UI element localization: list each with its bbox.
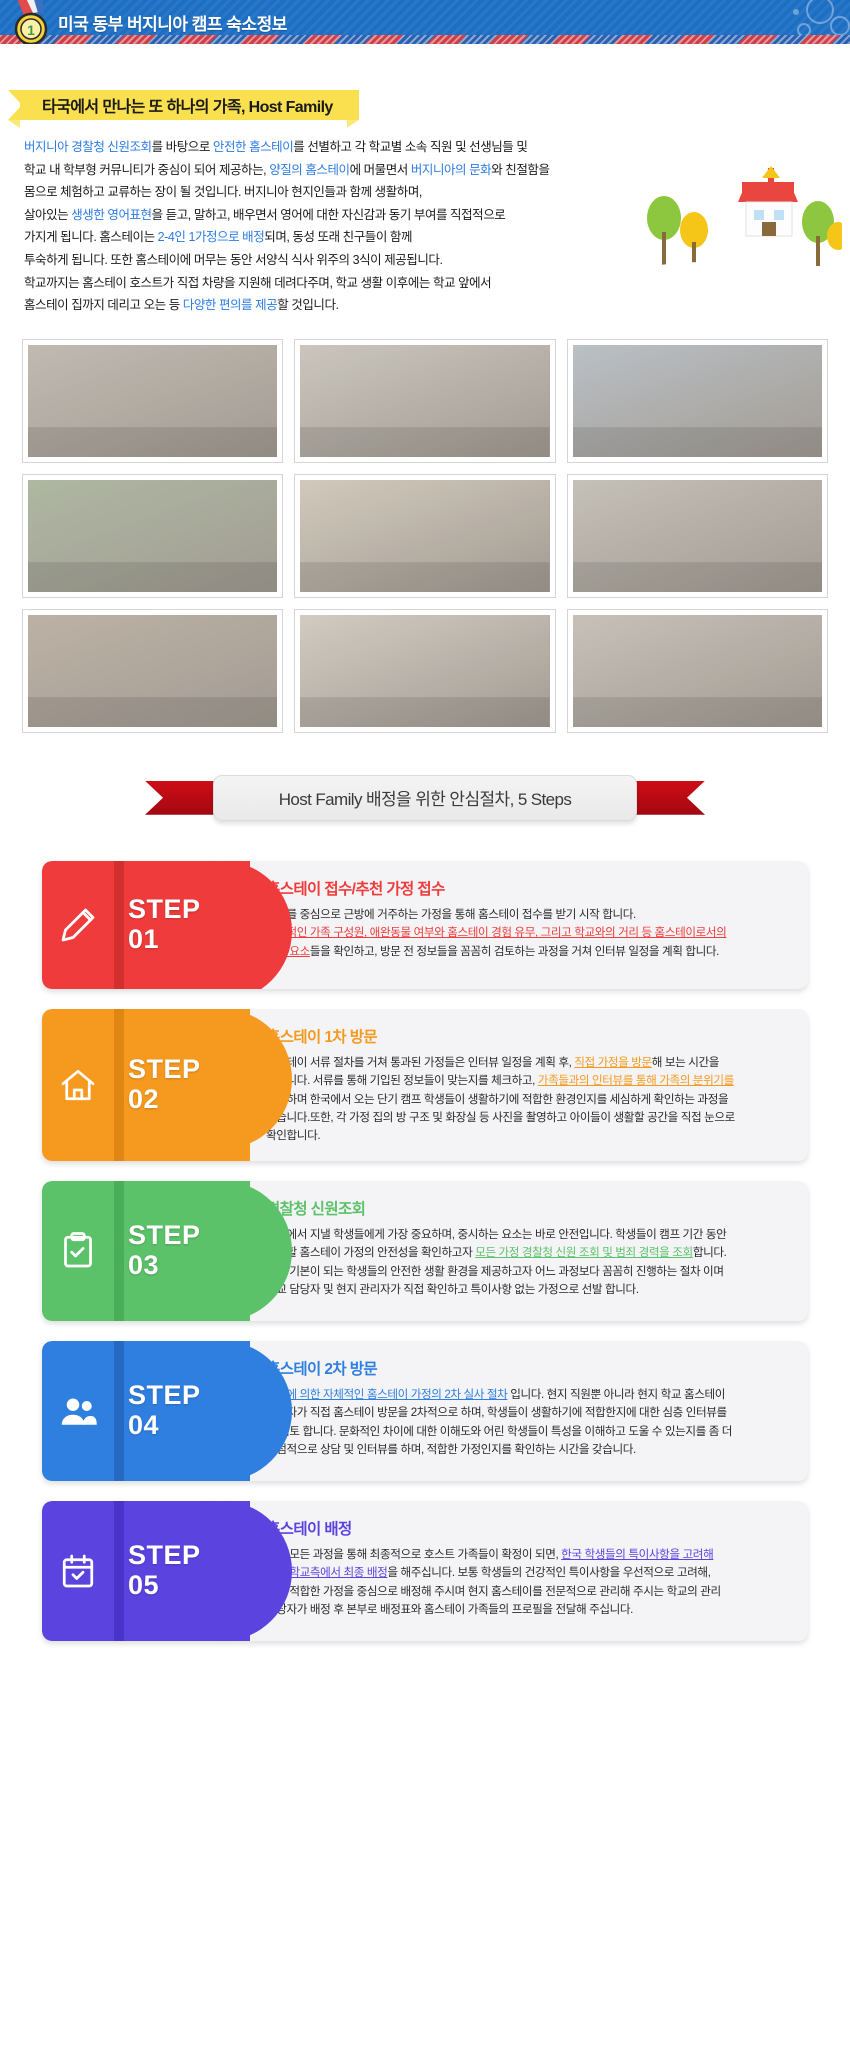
step-number: 04 [128,1412,201,1439]
step-title: 홈스테이 접수/추천 가정 접수 [266,877,786,899]
photo-cell [567,609,828,733]
step-word: STEP [128,1222,201,1249]
step-description-line: 학교 담당자 및 현지 관리자가 직접 확인하고 특이사항 없는 가정으로 선발… [266,1281,786,1299]
step-word: STEP [128,1542,201,1569]
step-description: 학교를 중심으로 근방에 거주하는 가정을 통해 홈스테이 접수를 받기 시작 … [266,906,786,961]
intro-line: 몸으로 체험하고 교류하는 장이 될 것입니다. 버지니아 현지인들과 함께 생… [24,181,654,204]
photo-host-family-7 [573,615,822,727]
step-description-emphasis: 한국 학생들의 특이사항을 고려해 [561,1548,713,1561]
step-title: 홈스테이 2차 방문 [266,1357,786,1379]
step-description-text: 관리자가 직접 홈스테이 방문을 2차적으로 하며, 학생들이 생활하기에 적합… [266,1406,727,1419]
step-number-label: STEP02 [128,1056,201,1113]
step-description-line: 학교에 의한 자체적인 홈스테이 가정의 2차 실사 절차 입니다. 현지 직원… [266,1386,786,1404]
intro-paragraph: 버지니아 경찰청 신원조회를 바탕으로 안전한 홈스테이를 선별하고 각 학교별… [24,136,654,317]
step-description-emphasis: 모든 가정 경찰청 신원 조회 및 범죄 경력을 조회 [475,1246,693,1259]
intro-text: 살아있는 [24,208,71,222]
step-card-04: STEP04홈스테이 2차 방문학교에 의한 자체적인 홈스테이 가정의 2차 … [42,1341,808,1481]
step-description-text: 홈스테이 서류 절차를 거쳐 통과된 가정들은 인터뷰 일정을 계획 후, [266,1056,574,1069]
step-number: 05 [128,1572,201,1599]
step-card-01: STEP01홈스테이 접수/추천 가정 접수학교를 중심으로 근방에 거주하는 … [42,861,808,989]
intro-highlight: 버지니아의 문화 [411,163,491,177]
step-description-emphasis: 직접 가정을 방문 [574,1056,652,1069]
step-number-label: STEP04 [128,1382,201,1439]
photo-host-family-5 [573,480,822,592]
step-word: STEP [128,1382,201,1409]
step-description-emphasis: 가족들과의 인터뷰를 통해 가족의 분위기를 [538,1074,734,1087]
step-description-text: 갖습니다.또한, 각 가정 집의 방 구조 및 화장실 등 사진을 촬영하고 아… [266,1111,735,1124]
step-word: STEP [128,1056,201,1083]
hero-banner-wrap: 타국에서 만나는 또 하나의 가족, Host Family [0,90,850,132]
step-badge-divider [114,1501,124,1641]
step-title: 홈스테이 1차 방문 [266,1025,786,1047]
step-description: 타국에서 지낼 학생들에게 가장 중요하며, 중시하는 요소는 바로 안전입니다… [266,1226,786,1300]
step-badge: STEP01 [42,861,250,989]
photo-host-family-1 [28,345,277,457]
step-description-text: 재 검토 합니다. 문화적인 차이에 대한 이해도와 어린 학생들이 특성을 이… [266,1425,732,1438]
step-content: 홈스테이 접수/추천 가정 접수학교를 중심으로 근방에 거주하는 가정을 통해… [250,861,808,989]
step-description-text: 학교 담당자 및 현지 관리자가 직접 확인하고 특이사항 없는 가정으로 선발… [266,1283,639,1296]
steps-list: STEP01홈스테이 접수/추천 가정 접수학교를 중심으로 근방에 거주하는 … [42,861,808,1641]
intro-line: 학교까지는 홈스테이 호스트가 직접 차량을 지원해 데려다주며, 학교 생활 … [24,272,654,295]
step-description-line: 관리자가 직접 홈스테이 방문을 2차적으로 하며, 학생들이 생활하기에 적합… [266,1404,786,1422]
step-card-05: STEP05홈스테이 배정위의 모든 과정을 통해 최종적으로 호스트 가족들이… [42,1501,808,1641]
medal-rank-1-icon: 1 [8,0,54,44]
step-content: 홈스테이 배정위의 모든 과정을 통해 최종적으로 호스트 가족들이 확정이 되… [250,1501,808,1641]
step-description-line: 기본 요소들을 확인하고, 방문 전 정보들을 꼼꼼히 검토하는 과정을 거쳐 … [266,943,786,961]
step-description-line: 중점적으로 상담 및 인터뷰를 하며, 적합한 가정인지를 확인하는 시간을 갖… [266,1441,786,1459]
step-description-line: 가장 기본이 되는 학생들의 안전한 생활 환경을 제공하고자 어느 과정보다 … [266,1263,786,1281]
intro-line: 홈스테이 집까지 데리고 오는 등 다양한 편의를 제공할 것입니다. [24,294,654,317]
photo-house-exterior [28,480,277,592]
hero-banner-title: 타국에서 만나는 또 하나의 가족, Host Family [42,93,333,117]
step-badge: STEP04 [42,1341,250,1481]
ribbon-title: Host Family 배정을 위한 안심절차, 5 Steps [213,775,637,821]
intro-highlight: 버지니아 경찰청 신원조회 [24,140,152,154]
step-description-text: 갖습니다. 서류를 통해 기입된 정보들이 맞는지를 체크하고, [266,1074,538,1087]
photo-host-family-6 [300,615,549,727]
step-card-03: STEP03경찰청 신원조회타국에서 지낼 학생들에게 가장 중요하며, 중시하… [42,1181,808,1321]
step-badge: STEP05 [42,1501,250,1641]
step-description-text: 합니다. [693,1246,727,1259]
step-description-text: 가장 기본이 되는 학생들의 안전한 생활 환경을 제공하고자 어느 과정보다 … [266,1265,724,1278]
photo-cell [567,474,828,598]
step-description-line: 확인합니다. [266,1127,786,1145]
photo-cell [22,474,283,598]
step-description-emphasis: 기본적인 가족 구성원, 애완동물 여부와 홈스테이 경험 유무, 그리고 학교… [266,926,726,939]
step-description-text: 담당자가 배정 후 본부로 배정표와 홈스테이 가족들의 프로필을 전달해 주십… [266,1603,633,1616]
step-description-text: 이에 적합한 가정을 중심으로 배정해 주시며 현지 홈스테이를 전문적으로 관… [266,1585,721,1598]
step-description-text: 하며 한국에서 오는 단기 캠프 학생들이 생활하기에 적합한 환경인지를 세심… [287,1093,729,1106]
step-description-text: 입니다. 현지 직원뿐 아니라 현지 학교 홈스테이 [507,1388,725,1401]
step-card-02: STEP02홈스테이 1차 방문홈스테이 서류 절차를 거쳐 통과된 가정들은 … [42,1009,808,1161]
intro-text: 에 머물면서 [350,163,411,177]
step-description-text: 생활할 홈스테이 가정의 안전성을 확인하고자 [266,1246,475,1259]
calendar-check-icon [42,1551,114,1591]
step-description-text: 학교를 중심으로 근방에 거주하는 가정을 통해 홈스테이 접수를 받기 시작 … [266,908,636,921]
step-description-text: 확인합니다. [266,1129,320,1142]
intro-text: 학교 내 학부형 커뮤니티가 중심이 되어 제공하는, [24,163,269,177]
intro-text: 몸으로 체험하고 교류하는 장이 될 것입니다. 버지니아 현지인들과 함께 생… [24,185,422,199]
svg-text:1: 1 [27,22,35,38]
step-badge-divider [114,1181,124,1321]
photo-cell [294,609,555,733]
step-description-text: 해 보는 시간을 [652,1056,719,1069]
people-icon [42,1391,114,1431]
step-description-line: 담당자가 배정 후 본부로 배정표와 홈스테이 가족들의 프로필을 전달해 주십… [266,1601,786,1619]
step-content: 경찰청 신원조회타국에서 지낼 학생들에게 가장 중요하며, 중시하는 요소는 … [250,1181,808,1321]
photo-cell [294,339,555,463]
intro-highlight: 양질의 홈스테이 [269,163,349,177]
intro-text: 홈스테이 집까지 데리고 오는 등 [24,298,183,312]
intro-line: 살아있는 생생한 영어표현을 듣고, 말하고, 배우면서 영어에 대한 자신감과… [24,204,654,227]
step-description-text: 중점적으로 상담 및 인터뷰를 하며, 적합한 가정인지를 확인하는 시간을 갖… [266,1443,636,1456]
step-content: 홈스테이 2차 방문학교에 의한 자체적인 홈스테이 가정의 2차 실사 절차 … [250,1341,808,1481]
step-badge-divider [114,1009,124,1161]
photo-cell [22,339,283,463]
step-number-label: STEP05 [128,1542,201,1599]
step-badge: STEP03 [42,1181,250,1321]
hero-banner: 타국에서 만나는 또 하나의 가족, Host Family [20,90,359,120]
intro-text: 되며, 동성 또래 친구들이 함께 [264,230,412,244]
step-number: 01 [128,926,201,953]
step-description-line: 갖습니다.또한, 각 가정 집의 방 구조 및 화장실 등 사진을 촬영하고 아… [266,1109,786,1127]
step-content: 홈스테이 1차 방문홈스테이 서류 절차를 거쳐 통과된 가정들은 인터뷰 일정… [250,1009,808,1161]
intro-text: 할 것입니다. [277,298,338,312]
photo-host-family-3 [573,345,822,457]
step-badge: STEP02 [42,1009,250,1161]
step-description-line: 생활할 홈스테이 가정의 안전성을 확인하고자 모든 가정 경찰청 신원 조회 … [266,1244,786,1262]
step-description-line: 갖습니다. 서류를 통해 기입된 정보들이 맞는지를 체크하고, 가족들과의 인… [266,1072,786,1090]
intro-text: 를 바탕으로 [152,140,213,154]
step-description-line: 이에 적합한 가정을 중심으로 배정해 주시며 현지 홈스테이를 전문적으로 관… [266,1583,786,1601]
step-number-label: STEP01 [128,896,201,953]
photo-cell [567,339,828,463]
home-icon [42,1065,114,1105]
step-description-line: 점검하며 한국에서 오는 단기 캠프 학생들이 생활하기에 적합한 환경인지를 … [266,1091,786,1109]
photo-host-family-2 [300,345,549,457]
step-description-line: 학교를 중심으로 근방에 거주하는 가정을 통해 홈스테이 접수를 받기 시작 … [266,906,786,924]
banner-notch-right [347,120,359,128]
intro-highlight: 2-4인 1가정으로 배정 [158,230,265,244]
step-description-line: 위의 모든 과정을 통해 최종적으로 호스트 가족들이 확정이 되면, 한국 학… [266,1546,786,1564]
step-description: 홈스테이 서류 절차를 거쳐 통과된 가정들은 인터뷰 일정을 계획 후, 직접… [266,1054,786,1146]
step-word: STEP [128,896,201,923]
step-badge-divider [114,861,124,989]
intro-text: 학교까지는 홈스테이 호스트가 직접 차량을 지원해 데려다주며, 학교 생활 … [24,276,491,290]
photo-host-family-4 [300,480,549,592]
step-badge-divider [114,1341,124,1481]
photo-cell [22,609,283,733]
intro-highlight: 생생한 영어표현 [71,208,151,222]
photo-living-room [28,615,277,727]
step-number: 02 [128,1086,201,1113]
intro-text: 을 듣고, 말하고, 배우면서 영어에 대한 자신감과 동기 부여를 직접적으로 [152,208,506,222]
step-title: 홈스테이 배정 [266,1517,786,1539]
step-number-label: STEP03 [128,1222,201,1279]
step-description-line: 타국에서 지낼 학생들에게 가장 중요하며, 중시하는 요소는 바로 안전입니다… [266,1226,786,1244]
step-description-emphasis: 학교에 의한 자체적인 홈스테이 가정의 2차 실사 절차 [266,1388,507,1401]
step-title: 경찰청 신원조회 [266,1197,786,1219]
step-description-text: 들을 확인하고, 방문 전 정보들을 꼼꼼히 검토하는 과정을 거쳐 인터뷰 일… [310,945,719,958]
photo-cell [294,474,555,598]
step-description-line: 기본적인 가족 구성원, 애완동물 여부와 홈스테이 경험 유무, 그리고 학교… [266,924,786,942]
step-description: 학교에 의한 자체적인 홈스테이 가정의 2차 실사 절차 입니다. 현지 직원… [266,1386,786,1460]
intro-text: 투숙하게 됩니다. 또한 홈스테이에 머무는 동안 서양식 식사 위주의 3식이… [24,253,442,267]
intro-line: 버지니아 경찰청 신원조회를 바탕으로 안전한 홈스테이를 선별하고 각 학교별… [24,136,654,159]
pencil-icon [42,905,114,945]
intro-text: 와 친절함을 [491,163,549,177]
steps-ribbon-header: Host Family 배정을 위한 안심절차, 5 Steps [145,775,705,827]
intro-text: 를 선별하고 각 학교별 소속 직원 및 선생님들 및 [293,140,527,154]
photo-gallery [22,339,828,733]
step-description-line: 홈스테이 서류 절차를 거쳐 통과된 가정들은 인터뷰 일정을 계획 후, 직접… [266,1054,786,1072]
page-header: 1 미국 동부 버지니아 캠프 숙소정보 [0,0,850,44]
step-description-line: 재 검토 합니다. 문화적인 차이에 대한 이해도와 어린 학생들이 특성을 이… [266,1423,786,1441]
step-description-text: 을 해주십니다. 보통 학생들의 건강적인 특이사항을 우선적으로 고려해, [387,1566,710,1579]
intro-highlight: 다양한 편의를 제공 [183,298,277,312]
step-description-line: 현지 학교측에서 최종 배정을 해주십니다. 보통 학생들의 건강적인 특이사항… [266,1564,786,1582]
banner-notch-left [8,120,20,128]
house-and-trees-illustration [642,160,842,290]
intro-line: 투숙하게 됩니다. 또한 홈스테이에 머무는 동안 서양식 식사 위주의 3식이… [24,249,654,272]
step-description-text: 타국에서 지낼 학생들에게 가장 중요하며, 중시하는 요소는 바로 안전입니다… [266,1228,726,1241]
step-number: 03 [128,1252,201,1279]
clipboard-check-icon [42,1231,114,1271]
header-stripe-texture [0,35,850,44]
intro-line: 학교 내 학부형 커뮤니티가 중심이 되어 제공하는, 양질의 홈스테이에 머물… [24,159,654,182]
intro-line: 가지게 됩니다. 홈스테이는 2-4인 1가정으로 배정되며, 동성 또래 친구… [24,226,654,249]
intro-highlight: 안전한 홈스테이 [213,140,293,154]
step-description-text: 위의 모든 과정을 통해 최종적으로 호스트 가족들이 확정이 되면, [266,1548,561,1561]
step-description: 위의 모든 과정을 통해 최종적으로 호스트 가족들이 확정이 되면, 한국 학… [266,1546,786,1620]
intro-text: 가지게 됩니다. 홈스테이는 [24,230,158,244]
